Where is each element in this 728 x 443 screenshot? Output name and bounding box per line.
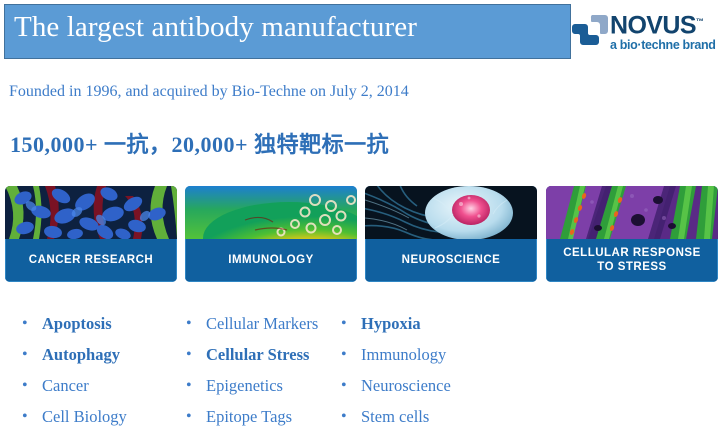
bullet-icon: • [341, 374, 361, 398]
immunology-micrograph [185, 186, 357, 239]
list-item[interactable]: • Cellular Markers [186, 312, 318, 343]
slide-header: The largest antibody manufacturer NOVUS™… [0, 0, 728, 62]
list-item[interactable]: • Immunology [341, 343, 451, 374]
bullet-icon: • [341, 405, 361, 429]
novus-logo: NOVUS™ a bio·techne brand [572, 5, 724, 57]
list-item[interactable]: • Cell Biology [22, 405, 127, 436]
list-item[interactable]: • Autophagy [22, 343, 127, 374]
trademark-icon: ™ [696, 17, 704, 26]
research-area-cards: CANCER RESEARCH [5, 186, 723, 282]
logo-name: NOVUS™ [610, 10, 724, 37]
list-item-label: Cellular Markers [206, 312, 318, 336]
list-item-label: Stem cells [361, 405, 429, 429]
card-caption-text: CELLULAR RESPONSE TO STRESS [563, 246, 701, 274]
bullet-icon: • [22, 343, 42, 367]
list-item[interactable]: • Hypoxia [341, 312, 451, 343]
list-item-label: Epitope Tags [206, 405, 292, 429]
list-item-label: Immunology [361, 343, 446, 367]
card-caption-text: CANCER RESEARCH [29, 253, 153, 267]
card-caption-immunology: IMMUNOLOGY [185, 239, 357, 282]
interlocking-squares-icon [572, 13, 608, 47]
neuroscience-illustration [365, 186, 537, 239]
list-item[interactable]: • Epigenetics [186, 374, 318, 405]
bullet-icon: • [186, 312, 206, 336]
bullet-icon: • [22, 374, 42, 398]
cellular-stress-micrograph [546, 186, 718, 239]
bullet-column-1: • Apoptosis • Autophagy • Cancer • Cell … [22, 312, 127, 436]
list-item-label: Cancer [42, 374, 89, 398]
page-title: The largest antibody manufacturer [14, 9, 417, 45]
list-item-label: Autophagy [42, 343, 120, 367]
list-item-label: Cellular Stress [206, 343, 309, 367]
list-item-label: Hypoxia [361, 312, 421, 336]
bullet-column-3: • Hypoxia • Immunology • Neuroscience • … [341, 312, 451, 436]
bullet-column-2: • Cellular Markers • Cellular Stress • E… [186, 312, 318, 436]
antibody-count-headline: 150,000+ 一抗，20,000+ 独特靶标一抗 [10, 127, 389, 159]
card-caption-text: IMMUNOLOGY [228, 253, 314, 267]
bullet-icon: • [22, 405, 42, 429]
logo-tagline: a bio·techne brand [610, 38, 724, 52]
topic-bullet-lists: • Apoptosis • Autophagy • Cancer • Cell … [0, 312, 728, 442]
logo-wordmark: NOVUS™ a bio·techne brand [610, 10, 724, 52]
bullet-icon: • [341, 312, 361, 336]
card-caption-cancer-research: CANCER RESEARCH [5, 239, 177, 282]
card-neuroscience[interactable]: NEUROSCIENCE [365, 186, 537, 282]
list-item-label: Neuroscience [361, 374, 451, 398]
bullet-icon: • [186, 374, 206, 398]
card-caption-cellular-response-to-stress: CELLULAR RESPONSE TO STRESS [546, 239, 718, 282]
card-cellular-response-to-stress[interactable]: CELLULAR RESPONSE TO STRESS [546, 186, 718, 282]
logo-name-text: NOVUS [610, 11, 696, 39]
list-item[interactable]: • Epitope Tags [186, 405, 318, 436]
list-item-label: Apoptosis [42, 312, 112, 336]
card-cancer-research[interactable]: CANCER RESEARCH [5, 186, 177, 282]
list-item[interactable]: • Stem cells [341, 405, 451, 436]
list-item[interactable]: • Cancer [22, 374, 127, 405]
bullet-icon: • [341, 343, 361, 367]
list-item[interactable]: • Apoptosis [22, 312, 127, 343]
list-item[interactable]: • Neuroscience [341, 374, 451, 405]
founding-subtitle: Founded in 1996, and acquired by Bio-Tec… [9, 83, 409, 101]
list-item-label: Cell Biology [42, 405, 127, 429]
bullet-icon: • [186, 343, 206, 367]
list-item-label: Epigenetics [206, 374, 283, 398]
bullet-icon: • [186, 405, 206, 429]
cancer-research-micrograph [5, 186, 177, 239]
list-item[interactable]: • Cellular Stress [186, 343, 318, 374]
card-caption-neuroscience: NEUROSCIENCE [365, 239, 537, 282]
card-immunology[interactable]: IMMUNOLOGY [185, 186, 357, 282]
bullet-icon: • [22, 312, 42, 336]
card-caption-text: NEUROSCIENCE [402, 253, 501, 267]
